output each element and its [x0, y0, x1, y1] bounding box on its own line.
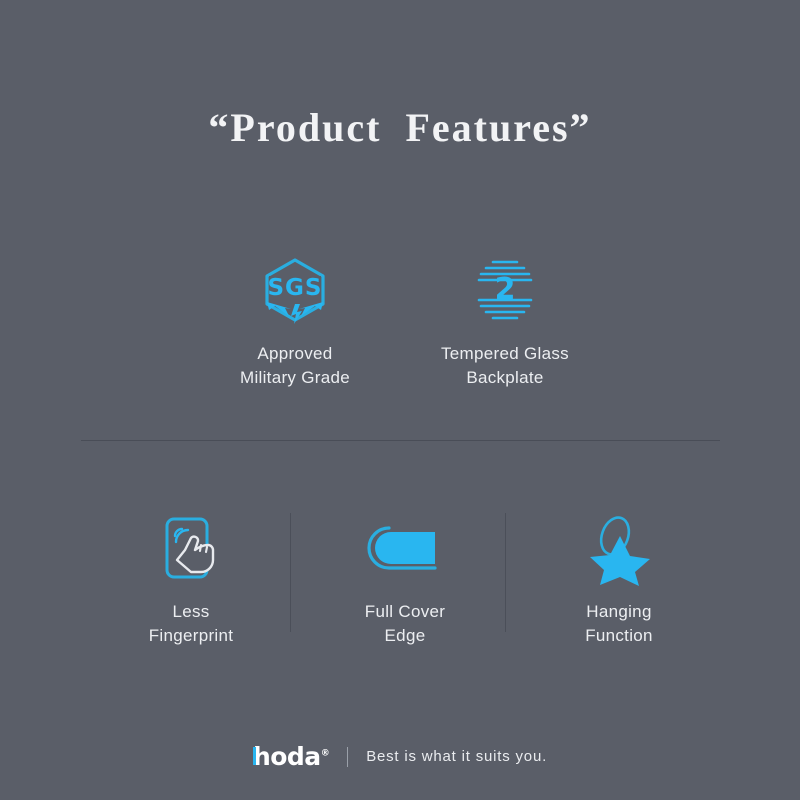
- feature-label: Hanging Function: [585, 600, 653, 648]
- feature-label-line1: Full Cover: [365, 602, 445, 621]
- feature-label: Less Fingerprint: [149, 600, 234, 648]
- feature-label-line1: Approved: [257, 344, 332, 363]
- svg-text:2: 2: [495, 272, 516, 307]
- star-hanging-loop-icon: [586, 512, 652, 586]
- double-glass-layer-icon: 2: [469, 252, 541, 328]
- page-title: “Product Features”: [0, 104, 800, 151]
- top-feature-row: SGS Approved Military Grade: [190, 252, 610, 390]
- product-features-page: “Product Features” SGS Approved M: [0, 0, 800, 800]
- feature-label: Approved Military Grade: [240, 342, 350, 390]
- brand-logo-accent-bar: [253, 747, 256, 765]
- feature-label-line1: Hanging: [586, 602, 651, 621]
- section-divider: [81, 440, 720, 441]
- feature-label-line2: Fingerprint: [149, 624, 234, 648]
- footer: hoda® Best is what it suits you.: [0, 744, 800, 769]
- column-divider-1: [290, 513, 291, 632]
- column-divider-2: [505, 513, 506, 632]
- curved-edge-cover-icon: [365, 512, 445, 586]
- feature-label-line1: Less: [172, 602, 209, 621]
- sgs-certification-icon: SGS: [255, 252, 335, 328]
- feature-label-line2: Military Grade: [240, 366, 350, 390]
- feature-label: Full Cover Edge: [365, 600, 445, 648]
- feature-label-line1: Tempered Glass: [441, 344, 569, 363]
- feature-less-fingerprint: Less Fingerprint: [85, 512, 297, 648]
- feature-label-line2: Backplate: [441, 366, 569, 390]
- phone-touch-fingerprint-icon: [155, 512, 227, 586]
- feature-tempered-glass-backplate: 2 Tempered Glass Backplate: [400, 252, 610, 390]
- footer-separator: [347, 747, 348, 767]
- bottom-feature-row: Less Fingerprint Full Cover Edge: [85, 512, 725, 648]
- feature-hanging-function: Hanging Function: [513, 512, 725, 648]
- feature-label-line2: Edge: [365, 624, 445, 648]
- registered-trademark-icon: ®: [321, 749, 330, 759]
- brand-logo-text: hoda: [253, 742, 321, 771]
- svg-text:SGS: SGS: [267, 275, 322, 301]
- feature-approved-military-grade: SGS Approved Military Grade: [190, 252, 400, 390]
- brand-tagline: Best is what it suits you.: [366, 748, 547, 765]
- feature-full-cover-edge: Full Cover Edge: [299, 512, 511, 648]
- feature-label-line2: Function: [585, 624, 653, 648]
- brand-logo: hoda®: [253, 744, 329, 769]
- feature-label: Tempered Glass Backplate: [441, 342, 569, 390]
